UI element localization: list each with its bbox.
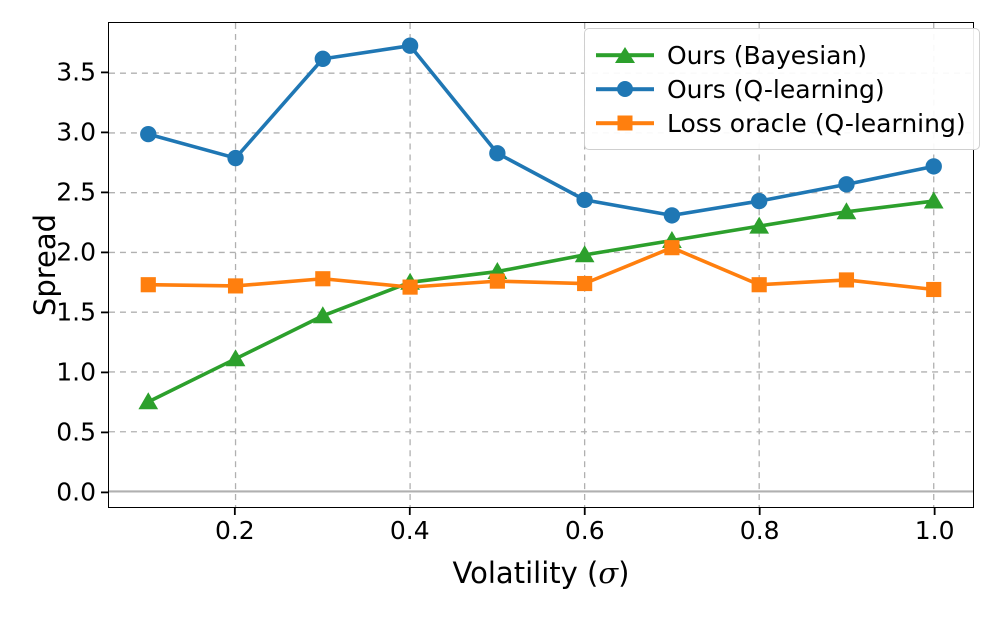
- legend-item-1: Ours (Q-learning): [596, 72, 966, 106]
- y-tick-label: 2.5: [56, 178, 96, 207]
- x-tick-label: 0.4: [390, 516, 430, 545]
- x-tick-label: 0.8: [740, 516, 780, 545]
- x-tick-label: 0.2: [215, 516, 255, 545]
- y-axis-tick-labels: 0.00.51.01.52.02.53.03.5: [0, 22, 96, 508]
- y-tick-label: 3.5: [56, 58, 96, 87]
- legend-marker-triangle-icon: [615, 47, 635, 63]
- legend-item-0: Ours (Bayesian): [596, 38, 966, 72]
- legend-key-ours-bayesian: [596, 44, 654, 66]
- legend-label-2: Loss oracle (Q-learning): [667, 111, 966, 136]
- y-tick-label: 1.0: [56, 358, 96, 387]
- y-tick-label: 2.0: [56, 238, 96, 267]
- y-tick-label: 0.5: [56, 418, 96, 447]
- y-tick-label: 3.0: [56, 118, 96, 147]
- x-axis-title-text: Volatility (σ): [453, 556, 630, 590]
- legend-marker-square-icon: [618, 116, 633, 131]
- legend-key-ours-qlearning: [596, 78, 654, 100]
- legend-item-2: Loss oracle (Q-learning): [596, 106, 966, 140]
- chart-figure: Spread 0.00.51.01.52.02.53.03.5 0.20.40.…: [0, 0, 997, 623]
- x-tick-label: 0.6: [565, 516, 605, 545]
- x-axis-tick-labels: 0.20.40.60.81.0: [108, 516, 974, 550]
- legend-key-loss-oracle: [596, 112, 654, 134]
- x-axis-title: Volatility (σ): [108, 556, 974, 590]
- series-2: [141, 240, 942, 297]
- legend-label-0: Ours (Bayesian): [667, 43, 867, 68]
- series-0: [138, 192, 943, 410]
- sigma-symbol: σ: [598, 556, 618, 590]
- y-tick-label: 1.5: [56, 298, 96, 327]
- chart-legend: Ours (Bayesian) Ours (Q-learning) Loss o…: [584, 28, 980, 150]
- legend-marker-circle-icon: [617, 81, 633, 97]
- legend-label-1: Ours (Q-learning): [667, 77, 885, 102]
- y-tick-label: 0.0: [56, 478, 96, 507]
- x-tick-label: 1.0: [915, 516, 955, 545]
